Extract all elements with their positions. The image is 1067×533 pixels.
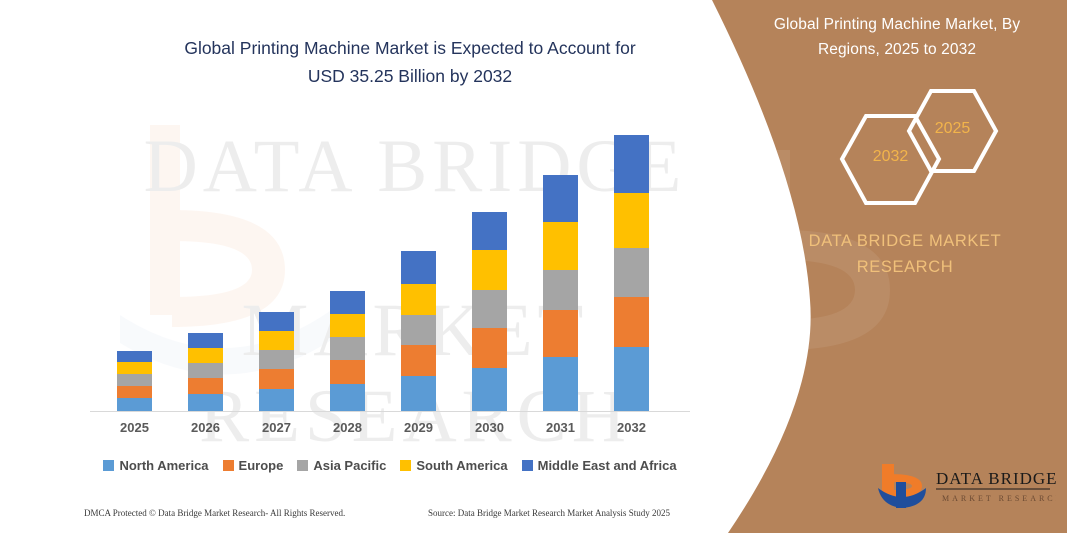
bar-segment [472, 212, 507, 250]
bar-2026 [188, 333, 223, 411]
legend-swatch [103, 460, 114, 471]
bar-segment [117, 386, 152, 398]
bar-segment [614, 135, 649, 193]
legend-label: Middle East and Africa [538, 458, 677, 473]
legend-swatch [223, 460, 234, 471]
bar-2028 [330, 291, 365, 411]
bar-segment [472, 290, 507, 328]
bar-segment [330, 360, 365, 384]
legend-item[interactable]: Asia Pacific [297, 458, 386, 473]
footer-copyright: DMCA Protected © Data Bridge Market Rese… [84, 508, 345, 518]
bar-segment [543, 310, 578, 357]
svg-text:DATA BRIDGE: DATA BRIDGE [936, 469, 1056, 488]
legend-label: Europe [239, 458, 284, 473]
bar-segment [543, 222, 578, 270]
bar-segment [330, 314, 365, 337]
bar-segment [401, 315, 436, 345]
legend-item[interactable]: Middle East and Africa [522, 458, 677, 473]
hexagon-2025: 2025 [905, 87, 1000, 175]
brand-line-2: RESEARCH [760, 254, 1050, 280]
bar-segment [614, 297, 649, 347]
bar-segment [330, 291, 365, 314]
brand-name: DATA BRIDGE MARKET RESEARCH [760, 228, 1050, 280]
bar-segment [614, 193, 649, 248]
legend-label: North America [119, 458, 208, 473]
bar-2032 [614, 135, 649, 411]
bar-segment [614, 248, 649, 297]
bar-segment [259, 389, 294, 411]
panel-title-line-2: Regions, 2025 to 2032 [742, 37, 1052, 62]
bar-segment [259, 312, 294, 331]
data-bridge-logo: DATA BRIDGE MARKET RESEARCH [876, 462, 1056, 510]
bar-segment [188, 378, 223, 394]
bar-segment [543, 175, 578, 222]
x-axis-labels: 20252026202720282029203020312032 [90, 420, 690, 442]
brand-line-1: DATA BRIDGE MARKET [760, 228, 1050, 254]
chart-title: Global Printing Machine Market is Expect… [110, 34, 710, 90]
x-axis-label-2025: 2025 [105, 420, 165, 435]
bar-segment [401, 251, 436, 284]
x-axis-label-2029: 2029 [389, 420, 449, 435]
bar-segment [330, 384, 365, 411]
bar-segment [614, 347, 649, 411]
bar-segment [401, 284, 436, 315]
x-axis-label-2026: 2026 [176, 420, 236, 435]
bar-segment [543, 270, 578, 310]
chart-plot-area [90, 110, 690, 412]
bar-segment [117, 362, 152, 374]
bar-2027 [259, 312, 294, 411]
bar-segment [117, 398, 152, 411]
x-axis-line [90, 411, 690, 412]
chart-title-line-1: Global Printing Machine Market is Expect… [110, 34, 710, 62]
panel-title: Global Printing Machine Market, By Regio… [742, 12, 1052, 62]
legend-label: Asia Pacific [313, 458, 386, 473]
hexagon-2025-label: 2025 [905, 120, 1000, 138]
bar-segment [188, 348, 223, 363]
infographic-root: DATA BRIDGE MARKET RESEARCH Global Print… [0, 0, 1067, 533]
bar-2031 [543, 175, 578, 411]
bar-segment [117, 351, 152, 362]
legend-swatch [297, 460, 308, 471]
legend-swatch [400, 460, 411, 471]
footer: DMCA Protected © Data Bridge Market Rese… [0, 508, 710, 528]
bar-segment [401, 376, 436, 411]
bar-segment [117, 374, 152, 386]
bar-2025 [117, 351, 152, 411]
legend-label: South America [416, 458, 507, 473]
bar-segment [188, 333, 223, 348]
bar-segment [330, 337, 365, 360]
svg-text:MARKET RESEARCH: MARKET RESEARCH [942, 494, 1056, 503]
chart-legend: North AmericaEuropeAsia PacificSouth Ame… [95, 455, 685, 475]
x-axis-label-2032: 2032 [602, 420, 662, 435]
hexagon-group: 2032 2025 [820, 100, 1020, 210]
bar-segment [543, 357, 578, 411]
bar-segment [472, 250, 507, 290]
bar-2029 [401, 251, 436, 411]
chart-title-line-2: USD 35.25 Billion by 2032 [110, 62, 710, 90]
bar-segment [259, 350, 294, 369]
logo-mark [878, 464, 926, 508]
legend-swatch [522, 460, 533, 471]
footer-source: Source: Data Bridge Market Research Mark… [428, 508, 670, 518]
x-axis-label-2027: 2027 [247, 420, 307, 435]
x-axis-label-2030: 2030 [460, 420, 520, 435]
bar-segment [401, 345, 436, 376]
legend-item[interactable]: South America [400, 458, 507, 473]
legend-item[interactable]: Europe [223, 458, 284, 473]
panel-title-line-1: Global Printing Machine Market, By [742, 12, 1052, 37]
bar-segment [188, 363, 223, 378]
x-axis-label-2031: 2031 [531, 420, 591, 435]
bar-segment [472, 368, 507, 411]
bar-segment [259, 331, 294, 350]
bar-segment [259, 369, 294, 389]
legend-item[interactable]: North America [103, 458, 208, 473]
bar-segment [188, 394, 223, 411]
x-axis-label-2028: 2028 [318, 420, 378, 435]
bar-segment [472, 328, 507, 368]
bar-2030 [472, 212, 507, 411]
